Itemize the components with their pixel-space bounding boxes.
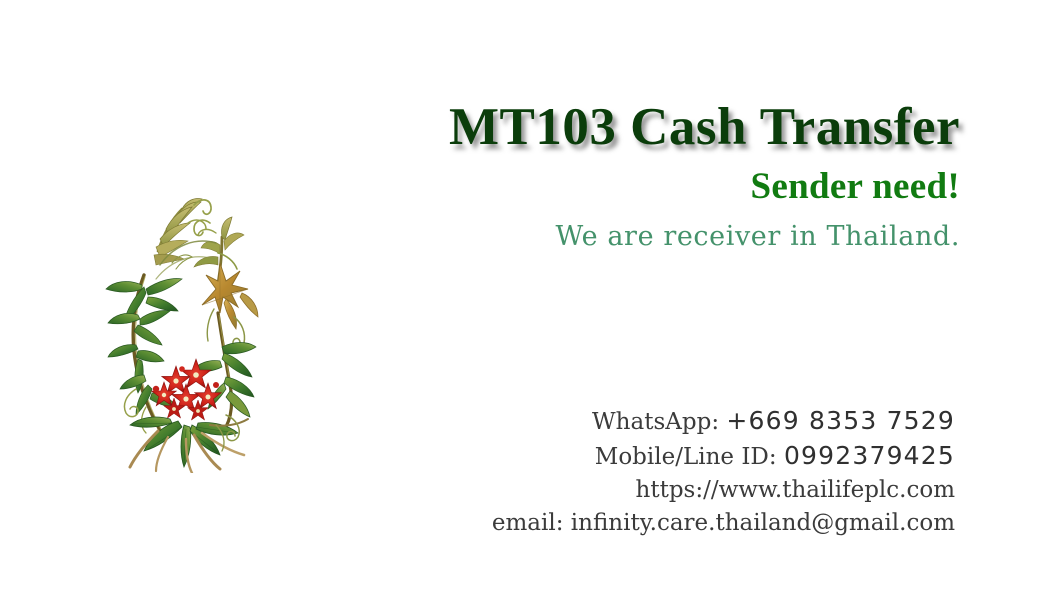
business-card-canvas: MT103 Cash Transfer Sender need! We are …: [0, 0, 1063, 600]
contact-line-website: https://www.thailifeplc.com: [300, 474, 955, 507]
right-vine-group: [218, 313, 232, 427]
mobile-number[interactable]: 0992379425: [784, 441, 955, 470]
mobile-label: Mobile/Line ID:: [595, 444, 777, 470]
page-title: MT103 Cash Transfer: [260, 96, 960, 158]
page-subtitle: Sender need!: [260, 164, 960, 210]
page-tagline: We are receiver in Thailand.: [260, 219, 960, 255]
email-address[interactable]: infinity.care.thailand@gmail.com: [571, 510, 955, 536]
bottom-leaf-cluster: [130, 417, 248, 473]
whatsapp-number[interactable]: +669 8353 7529: [726, 406, 955, 435]
contact-line-email: email: infinity.care.thailand@gmail.com: [300, 507, 955, 540]
contact-line-mobile: Mobile/Line ID: 0992379425: [300, 439, 955, 474]
whatsapp-label: WhatsApp:: [592, 409, 719, 435]
gold-star-leaf: [202, 263, 258, 349]
contact-block: WhatsApp: +669 8353 7529 Mobile/Line ID:…: [300, 404, 955, 540]
headline-block: MT103 Cash Transfer Sender need! We are …: [260, 96, 960, 255]
website-url[interactable]: https://www.thailifeplc.com: [636, 477, 955, 503]
email-label: email:: [492, 510, 564, 536]
contact-line-whatsapp: WhatsApp: +669 8353 7529: [300, 404, 955, 439]
floral-wreath-illustration: [98, 193, 263, 473]
